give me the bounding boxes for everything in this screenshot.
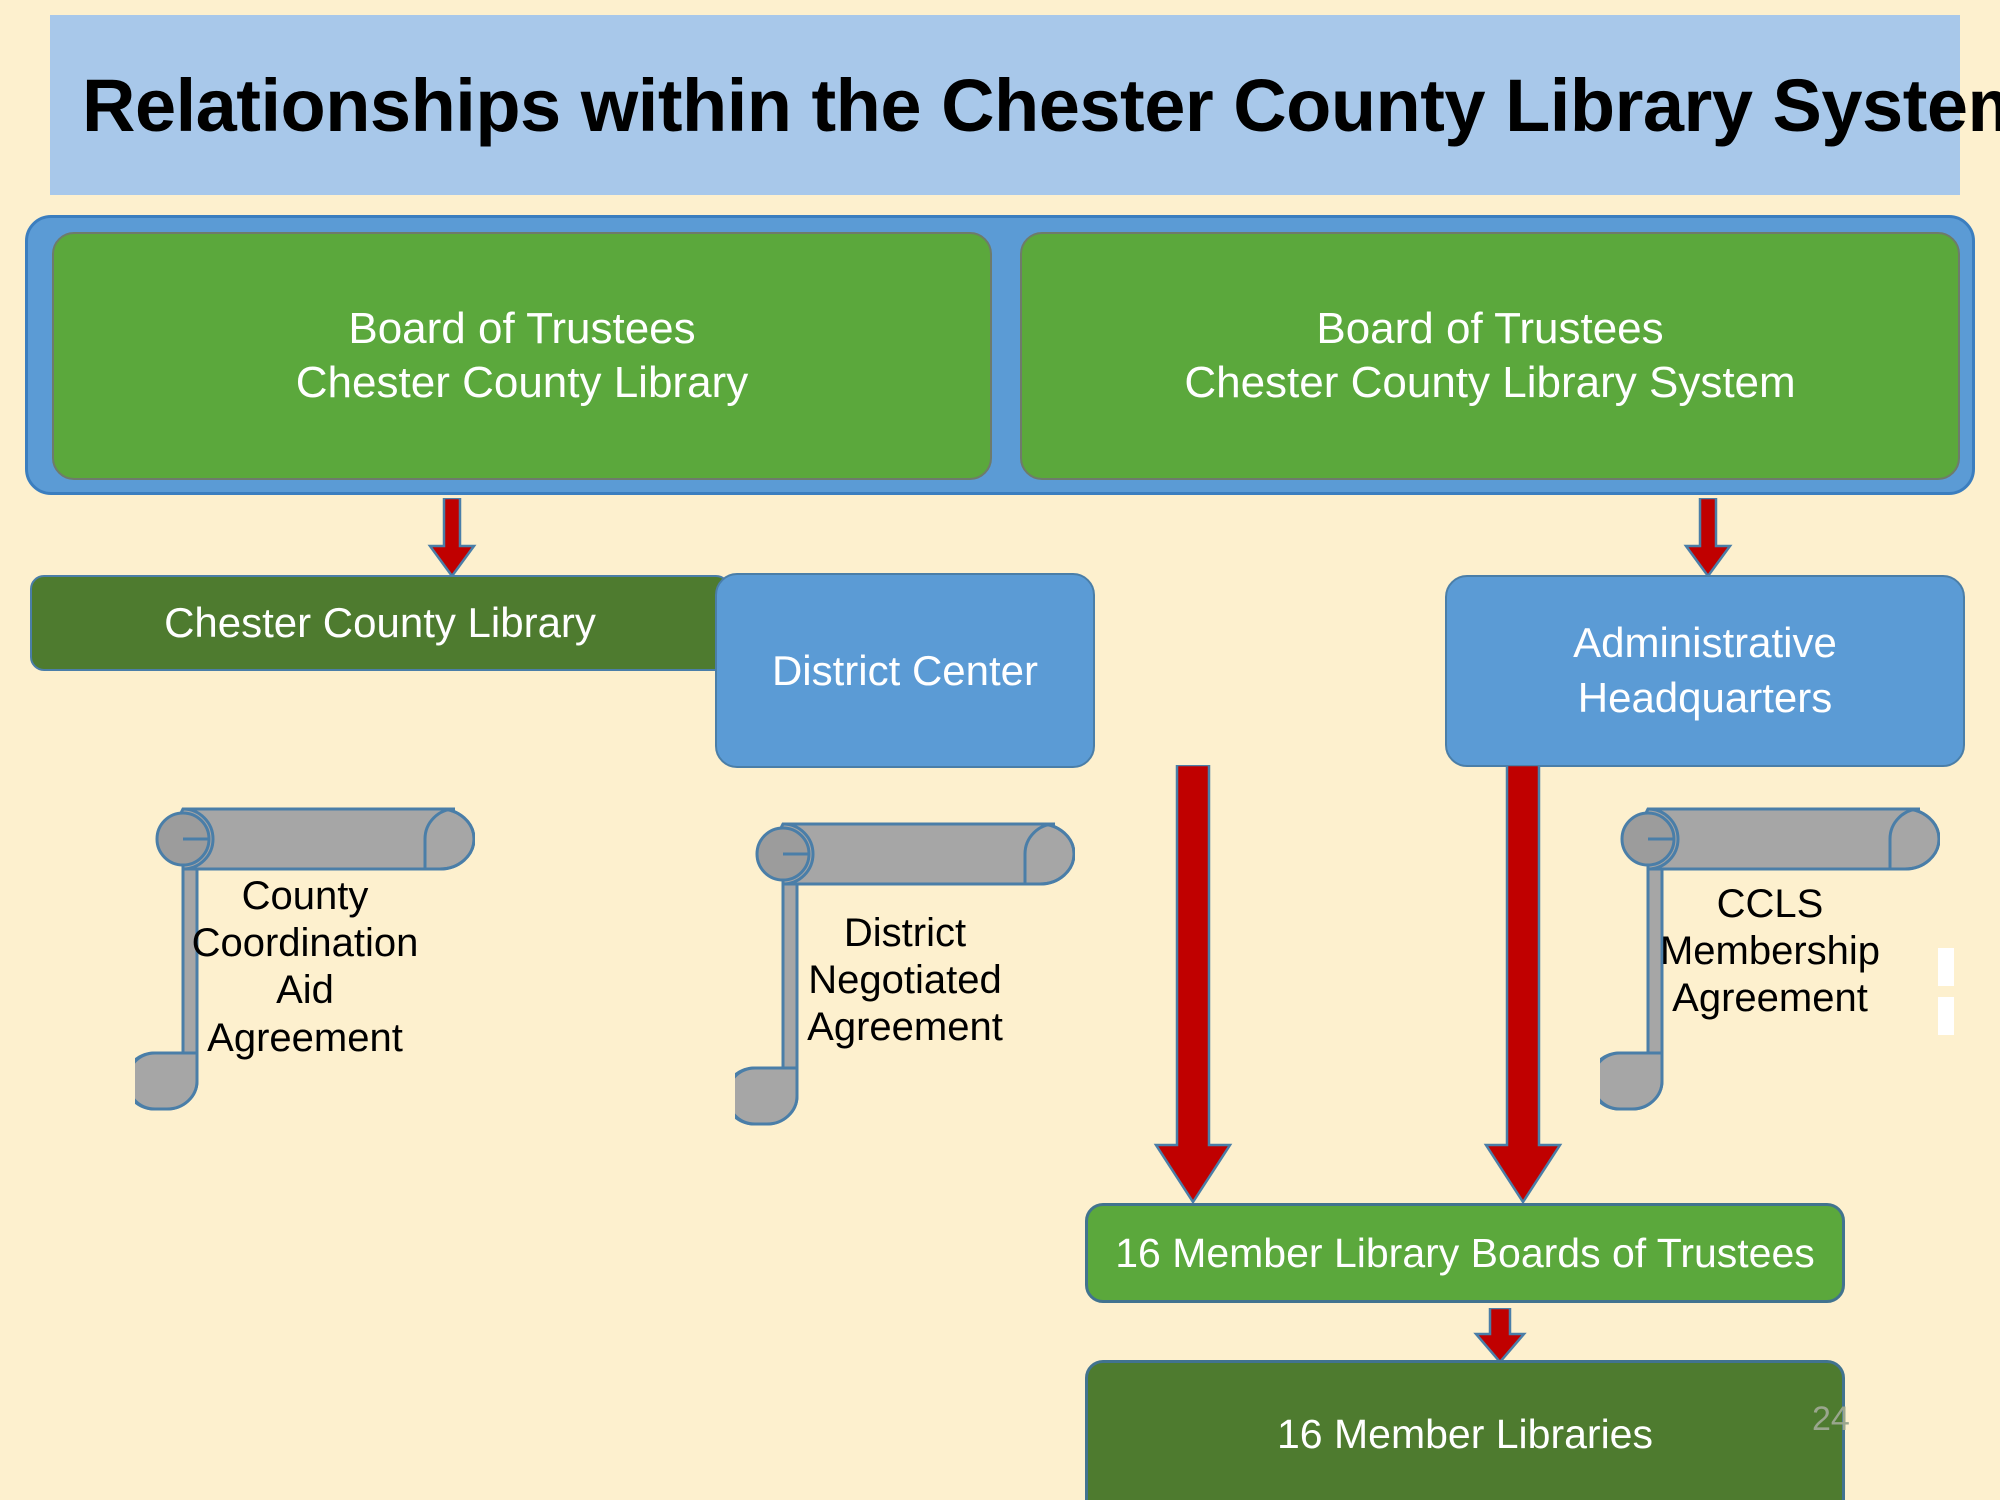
title-banner: Relationships within the Chester County …: [50, 15, 1960, 195]
scroll-county-coordination-aid-agreement[interactable]: County Coordination Aid Agreement: [135, 795, 475, 1125]
white-marker-chip-bottom: [1938, 997, 1954, 1035]
box-label: District Center: [772, 647, 1038, 695]
box-label: 16 Member Libraries: [1277, 1411, 1653, 1458]
box-administrative-headquarters[interactable]: Administrative Headquarters: [1445, 575, 1965, 767]
box-16-member-library-boards-of-trustees[interactable]: 16 Member Library Boards of Trustees: [1085, 1203, 1845, 1303]
scroll-district-negotiated-agreement[interactable]: District Negotiated Agreement: [735, 810, 1075, 1140]
box-line-1: Board of Trustees: [296, 302, 748, 356]
slide-canvas: Relationships within the Chester County …: [0, 0, 2000, 1500]
box-line-2: Headquarters: [1573, 671, 1837, 726]
page-title: Relationships within the Chester County …: [50, 63, 2000, 148]
page-number: 24: [1812, 1400, 1850, 1439]
box-line-2: Chester County Library System: [1184, 356, 1795, 410]
box-chester-county-library[interactable]: Chester County Library: [30, 575, 730, 671]
box-label-wrapper: Administrative Headquarters: [1573, 616, 1837, 725]
white-marker-chip-top: [1938, 948, 1954, 986]
arrow-board-of-trustees-system-to-administrative-headquarters: [1680, 498, 1736, 578]
scroll-ccls-membership-agreement[interactable]: CCLS Membership Agreement: [1600, 795, 1940, 1125]
box-district-center[interactable]: District Center: [715, 573, 1095, 768]
box-line-1: Administrative: [1573, 616, 1837, 671]
box-16-member-libraries[interactable]: 16 Member Libraries: [1085, 1360, 1845, 1500]
box-line-2: Chester County Library: [296, 356, 748, 410]
box-board-of-trustees-chester-county-library[interactable]: Board of Trustees Chester County Library: [52, 232, 992, 480]
box-label-wrapper: Board of Trustees Chester County Library…: [1184, 302, 1795, 409]
box-label: Chester County Library: [164, 599, 596, 647]
arrow-administrative-headquarters-to-member-boards: [1482, 765, 1564, 1205]
box-line-1: Board of Trustees: [1184, 302, 1795, 356]
arrow-member-boards-to-member-libraries: [1472, 1308, 1528, 1364]
box-board-of-trustees-chester-county-library-system[interactable]: Board of Trustees Chester County Library…: [1020, 232, 1960, 480]
box-label-wrapper: Board of Trustees Chester County Library: [296, 302, 748, 409]
box-label: 16 Member Library Boards of Trustees: [1115, 1230, 1815, 1277]
arrow-district-center-to-member-boards: [1152, 765, 1234, 1205]
arrow-board-of-trustees-to-chester-county-library: [424, 498, 480, 578]
